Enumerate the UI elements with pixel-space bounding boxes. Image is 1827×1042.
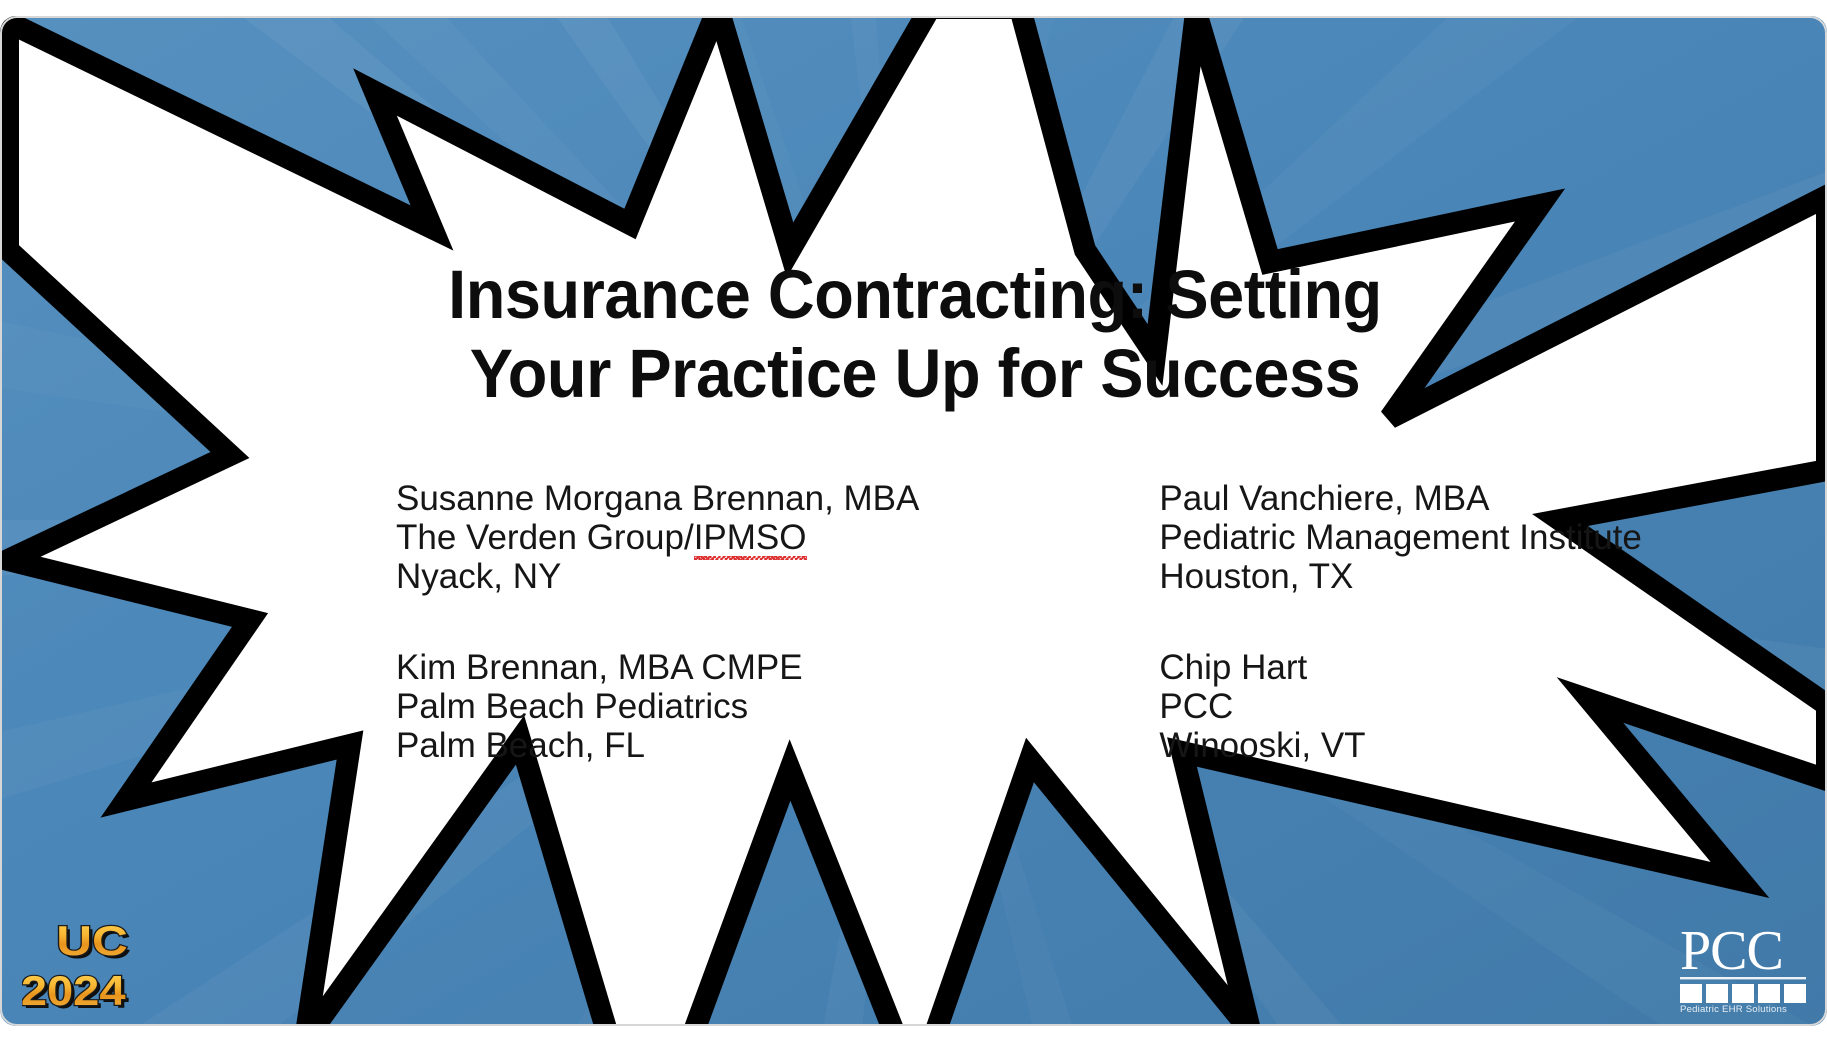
title-line-2: Your Practice Up for Success xyxy=(337,334,1493,413)
presenter-organization: The Verden Group/IPMSO xyxy=(396,518,919,557)
title-line-1: Insurance Contracting: Setting xyxy=(337,255,1493,334)
presenter-name: Chip Hart xyxy=(1159,648,1641,687)
presenter-location: Winooski, VT xyxy=(1159,726,1641,765)
presenter-org-prefix: The Verden Group/ xyxy=(396,518,694,557)
presenter-block: Kim Brennan, MBA CMPE Palm Beach Pediatr… xyxy=(396,648,919,765)
presenter-location: Houston, TX xyxy=(1159,557,1641,596)
presenter-name: Paul Vanchiere, MBA xyxy=(1159,479,1641,518)
presenter-location: Palm Beach, FL xyxy=(396,726,919,765)
uc-logo-line2: 2024 xyxy=(22,968,126,1014)
pcc-tagline: Pediatric EHR Solutions xyxy=(1680,1004,1787,1014)
presenter-location: Nyack, NY xyxy=(396,557,919,596)
presenter-column-left: Susanne Morgana Brennan, MBA The Verden … xyxy=(396,479,919,765)
slide-title: Insurance Contracting: Setting Your Prac… xyxy=(300,255,1530,413)
slide-content: Insurance Contracting: Setting Your Prac… xyxy=(0,0,1827,1042)
slide-canvas: Insurance Contracting: Setting Your Prac… xyxy=(0,0,1827,1042)
pcc-divider-line xyxy=(1680,977,1806,979)
spellcheck-underlined-word: IPMSO xyxy=(694,518,807,557)
presenter-name: Kim Brennan, MBA CMPE xyxy=(396,648,919,687)
uc-logo-line1: UC xyxy=(56,917,128,965)
presenter-block: Paul Vanchiere, MBA Pediatric Management… xyxy=(1159,479,1641,596)
presenter-name: Susanne Morgana Brennan, MBA xyxy=(396,479,919,518)
presenter-list: Susanne Morgana Brennan, MBA The Verden … xyxy=(396,479,1496,765)
presenter-organization: Palm Beach Pediatrics xyxy=(396,687,919,726)
presenter-block: Chip Hart PCC Winooski, VT xyxy=(1159,648,1641,765)
pcc-logo: PCC Pediatric EHR Solutions xyxy=(1678,916,1812,1014)
presenter-organization: PCC xyxy=(1159,687,1641,726)
presenter-block: Susanne Morgana Brennan, MBA The Verden … xyxy=(396,479,919,596)
presenter-column-right: Paul Vanchiere, MBA Pediatric Management… xyxy=(1159,479,1641,765)
pcc-wordmark: PCC xyxy=(1680,920,1783,982)
uc-2024-logo: UC 2024 UC 2024 xyxy=(22,912,152,1020)
presenter-organization: Pediatric Management Institute xyxy=(1159,518,1641,557)
pcc-square-row xyxy=(1680,984,1806,1003)
